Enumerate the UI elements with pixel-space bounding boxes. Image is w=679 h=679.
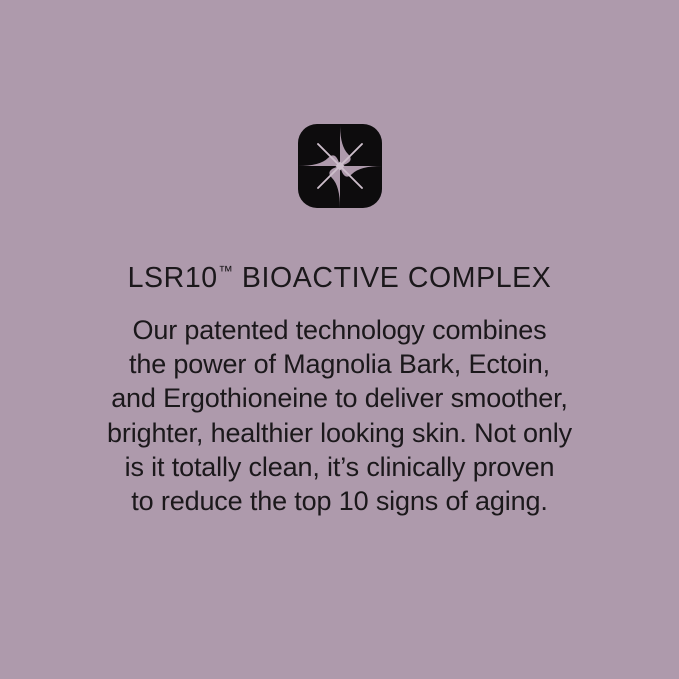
description-line: is it totally clean, it’s clinically pro… xyxy=(0,450,679,484)
four-petal-flower-icon xyxy=(298,124,382,208)
page-title: LSR10™ BIOACTIVE COMPLEX xyxy=(0,263,679,294)
brand-logo xyxy=(298,124,382,208)
description-text: Our patented technology combines the pow… xyxy=(0,313,679,518)
description-line: the power of Magnolia Bark, Ectoin, xyxy=(0,347,679,381)
description-line: brighter, healthier looking skin. Not on… xyxy=(0,416,679,450)
trademark-symbol: ™ xyxy=(218,264,233,280)
description-line: to reduce the top 10 signs of aging. xyxy=(0,484,679,518)
title-suffix: BIOACTIVE COMPLEX xyxy=(233,262,551,294)
description-line: and Ergothioneine to deliver smoother, xyxy=(0,381,679,415)
brand-name: LSR10 xyxy=(128,262,218,294)
description-line: Our patented technology combines xyxy=(0,313,679,347)
product-info-card: LSR10™ BIOACTIVE COMPLEX Our patented te… xyxy=(0,0,679,679)
